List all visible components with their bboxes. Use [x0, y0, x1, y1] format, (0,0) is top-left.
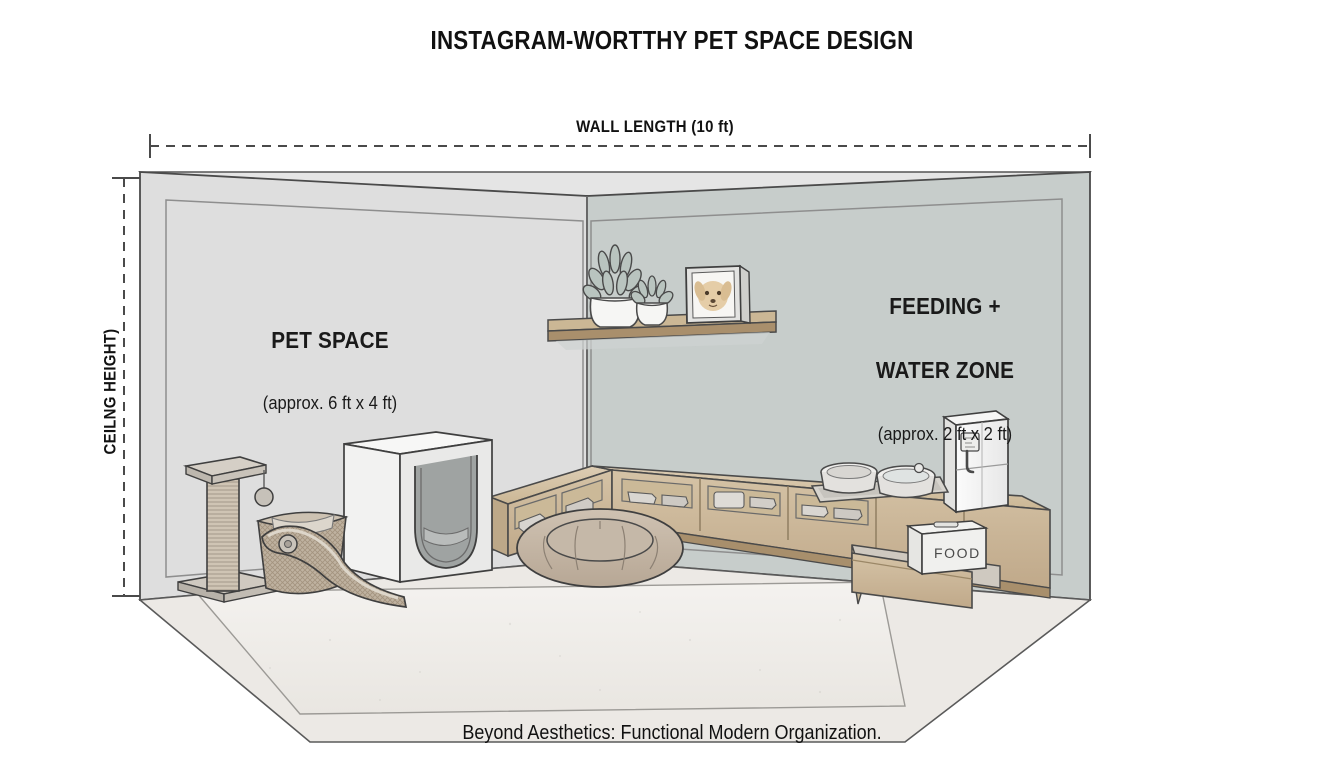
food-container-body — [908, 526, 922, 574]
feeding-zone-subtitle: (approx. 2 ft x 2 ft) — [812, 424, 1079, 444]
enclosed-litter-box — [344, 432, 492, 582]
pet-space-title: PET SPACE — [195, 328, 465, 354]
feeding-zone-title-line1: FEEDING + — [815, 294, 1076, 320]
wall-length-label: WALL LENGTH (10 ft) — [479, 117, 831, 136]
ceiling-height-label: CEILNG HEIGHT) — [100, 260, 119, 524]
round-pet-bed — [517, 509, 683, 587]
zone-label-feeding-water: FEEDING + WATER ZONE (approx. 2 ft x 2 f… — [800, 258, 1090, 480]
feeding-zone-title-line2: WATER ZONE — [815, 358, 1076, 384]
page-caption: Beyond Aesthetics: Functional Modern Org… — [67, 722, 1277, 744]
pet-space-subtitle: (approx. 6 ft x 4 ft) — [192, 393, 468, 413]
food-container-handle — [934, 522, 958, 527]
lounger-roller-center — [285, 541, 292, 548]
frame-stand — [740, 266, 750, 323]
hanging-ball-toy — [255, 488, 273, 506]
litter-box-left-face — [344, 444, 400, 582]
food-storage-container: FOOD — [908, 521, 986, 574]
litter-box-entry-arch — [415, 455, 477, 568]
area-rug — [196, 582, 905, 714]
dog-picture-frame — [686, 266, 750, 323]
page-title: INSTAGRAM-WORTTHY PET SPACE DESIGN — [94, 26, 1250, 55]
zone-label-pet-space: PET SPACE (approx. 6 ft x 4 ft) — [180, 292, 480, 449]
post-column — [207, 479, 239, 591]
pot-large — [590, 298, 639, 327]
food-container-label-text: FOOD — [934, 545, 981, 561]
pot-small — [637, 303, 668, 325]
pet-space-design-illustration: FOOD — [0, 0, 1344, 768]
